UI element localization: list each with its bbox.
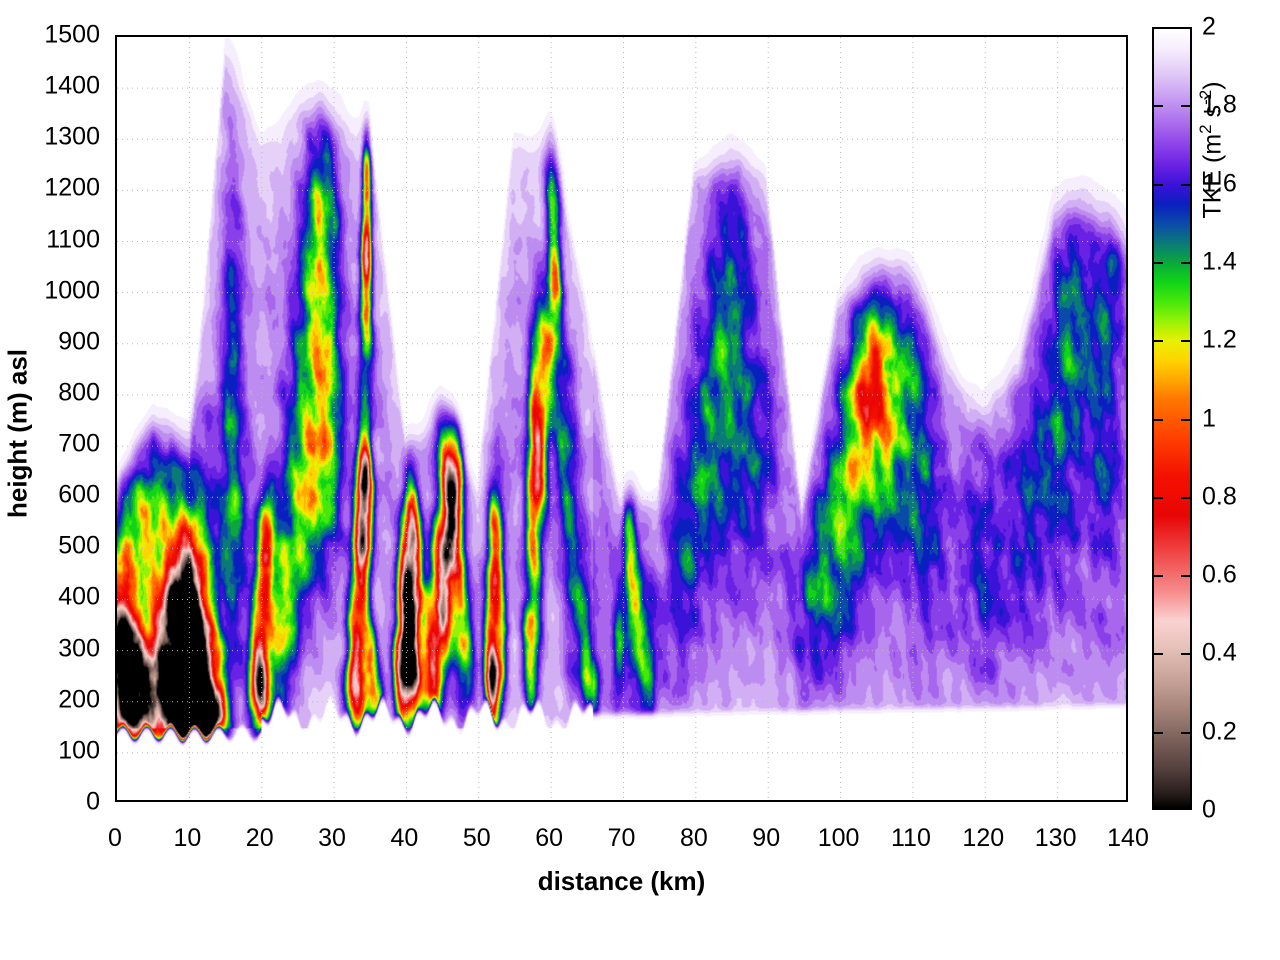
x-tick-major [768,800,770,802]
y-tick-minor-right [1126,472,1128,474]
y-tick-major [115,37,117,39]
x-tick-major-top [1058,35,1060,37]
x-tick-label: 30 [318,824,346,853]
x-tick-minor [370,800,372,802]
x-tick-minor [660,800,662,802]
colorbar-tick [1181,184,1192,186]
y-tick-major-right [1126,88,1128,90]
x-tick-minor-top [804,35,806,37]
x-tick-minor-top [370,35,372,37]
x-tick-minor [732,800,734,802]
y-tick-major-right [1126,548,1128,550]
x-tick-major-top [117,35,119,37]
x-tick-minor-top [949,35,951,37]
y-tick-minor [115,216,117,218]
x-tick-label: 40 [391,824,419,853]
x-tick-minor [949,800,951,802]
y-tick-major-right [1126,293,1128,295]
colorbar-title-sup2: -2 [1196,90,1215,105]
x-tick-major-top [479,35,481,37]
colorbar-tick [1152,653,1163,655]
x-tick-label: 60 [535,824,563,853]
x-tick-label: 70 [608,824,636,853]
x-tick-major-top [189,35,191,37]
x-tick-minor [877,800,879,802]
x-tick-minor [153,800,155,802]
y-tick-major [115,702,117,704]
x-tick-major [551,800,553,802]
colorbar-tick [1181,340,1192,342]
colorbar-title-sup1: 2 [1196,124,1215,133]
colorbar-title-end: ) [1198,81,1226,89]
colorbar-tick [1181,262,1192,264]
x-tick-major [479,800,481,802]
y-tick-minor-right [1126,625,1128,627]
y-tick-minor [115,778,117,780]
y-tick-minor [115,63,117,65]
x-tick-minor-top [298,35,300,37]
x-tick-minor-top [1021,35,1023,37]
y-tick-minor [115,318,117,320]
y-tick-minor [115,523,117,525]
x-tick-label: 10 [173,824,201,853]
y-tick-major-right [1126,753,1128,755]
colorbar-tick [1181,732,1192,734]
y-tick-major [115,599,117,601]
colorbar-tick-label: 1 [1202,404,1216,433]
x-tick-major [334,800,336,802]
y-tick-minor-right [1126,267,1128,269]
colorbar-tick [1181,497,1192,499]
colorbar-title-mid: s [1198,105,1226,124]
y-tick-major [115,190,117,192]
x-tick-minor [1094,800,1096,802]
y-tick-label: 200 [10,685,100,714]
colorbar-tick-label: 0.2 [1202,717,1237,746]
x-tick-minor [1021,800,1023,802]
x-tick-major [1058,800,1060,802]
x-axis-title: distance (km) [0,866,1243,897]
x-tick-major-top [334,35,336,37]
x-tick-label: 50 [463,824,491,853]
y-axis-title: height (m) asl [3,284,34,584]
colorbar-title-text: TKE (m [1198,134,1226,219]
y-tick-label: 400 [10,583,100,612]
y-tick-minor-right [1126,727,1128,729]
x-tick-minor-top [587,35,589,37]
x-tick-label: 80 [680,824,708,853]
x-tick-label: 90 [752,824,780,853]
y-tick-minor-right [1126,63,1128,65]
x-tick-major-top [624,35,626,37]
y-tick-major-right [1126,37,1128,39]
x-tick-minor [587,800,589,802]
y-tick-minor [115,165,117,167]
y-tick-minor-right [1126,676,1128,678]
x-tick-minor [804,800,806,802]
y-tick-minor [115,421,117,423]
x-tick-minor-top [443,35,445,37]
tke-heatmap-canvas [117,37,1126,800]
colorbar-tick-label: 0.8 [1202,482,1237,511]
colorbar [1152,27,1192,810]
colorbar-tick [1181,653,1192,655]
y-tick-minor [115,114,117,116]
y-tick-major-right [1126,190,1128,192]
x-tick-major [913,800,915,802]
y-tick-major [115,497,117,499]
y-tick-minor [115,676,117,678]
y-tick-major [115,88,117,90]
colorbar-tick [1152,184,1163,186]
y-tick-minor-right [1126,778,1128,780]
x-tick-major [696,800,698,802]
x-tick-major-top [913,35,915,37]
x-tick-minor-top [732,35,734,37]
colorbar-tick [1152,262,1163,264]
x-tick-label: 140 [1107,824,1149,853]
y-tick-minor-right [1126,165,1128,167]
y-tick-major [115,139,117,141]
tke-cross-section-figure: 0100200300400500600700800900100011001200… [0,0,1280,960]
y-tick-label: 300 [10,634,100,663]
y-tick-major-right [1126,599,1128,601]
y-tick-label: 1500 [10,21,100,50]
x-tick-minor-top [515,35,517,37]
y-tick-minor [115,472,117,474]
y-tick-major [115,446,117,448]
colorbar-tick [1181,419,1192,421]
y-tick-minor-right [1126,114,1128,116]
x-tick-major [624,800,626,802]
y-tick-minor [115,727,117,729]
x-tick-minor-top [226,35,228,37]
y-tick-minor-right [1126,574,1128,576]
y-tick-major [115,395,117,397]
y-tick-major [115,293,117,295]
x-tick-major [406,800,408,802]
x-tick-minor [298,800,300,802]
x-tick-minor [443,800,445,802]
x-tick-major-top [768,35,770,37]
plot-area [115,35,1128,802]
y-tick-minor-right [1126,369,1128,371]
y-tick-major [115,753,117,755]
x-tick-minor [226,800,228,802]
y-tick-major-right [1126,497,1128,499]
x-tick-major-top [262,35,264,37]
y-tick-minor-right [1126,421,1128,423]
y-tick-minor-right [1126,523,1128,525]
colorbar-tick [1152,575,1163,577]
x-tick-minor-top [660,35,662,37]
y-tick-minor [115,267,117,269]
y-tick-minor-right [1126,318,1128,320]
x-tick-label: 120 [962,824,1004,853]
colorbar-title: TKE (m2 s-2) [1196,0,1227,300]
x-tick-major [189,800,191,802]
y-tick-major-right [1126,651,1128,653]
colorbar-tick [1152,105,1163,107]
x-tick-major [117,800,119,802]
y-tick-major-right [1126,395,1128,397]
x-tick-major-top [406,35,408,37]
x-tick-label: 0 [108,824,122,853]
colorbar-tick [1152,497,1163,499]
y-tick-minor [115,625,117,627]
y-tick-label: 100 [10,736,100,765]
y-tick-major [115,548,117,550]
y-tick-label: 0 [10,788,100,817]
x-tick-major [985,800,987,802]
y-tick-minor [115,574,117,576]
colorbar-tick [1152,419,1163,421]
x-tick-major [841,800,843,802]
colorbar-tick [1152,732,1163,734]
colorbar-tick [1152,340,1163,342]
y-tick-label: 1300 [10,123,100,152]
colorbar-tick-label: 0 [1202,796,1216,825]
x-tick-label: 100 [818,824,860,853]
y-tick-major-right [1126,446,1128,448]
x-tick-minor-top [1094,35,1096,37]
colorbar-tick-label: 0.4 [1202,639,1237,668]
colorbar-tick [1181,105,1192,107]
x-tick-minor-top [877,35,879,37]
y-tick-major-right [1126,702,1128,704]
x-tick-major-top [551,35,553,37]
y-tick-label: 1400 [10,72,100,101]
y-tick-major [115,651,117,653]
x-tick-label: 130 [1035,824,1077,853]
x-tick-label: 20 [246,824,274,853]
y-tick-label: 1200 [10,174,100,203]
x-tick-minor-top [153,35,155,37]
colorbar-tick-label: 1.2 [1202,326,1237,355]
y-tick-label: 1100 [10,225,100,254]
y-tick-minor [115,369,117,371]
x-tick-major-top [696,35,698,37]
y-tick-major-right [1126,242,1128,244]
x-tick-major-top [985,35,987,37]
colorbar-tick-label: 0.6 [1202,561,1237,590]
x-tick-major [262,800,264,802]
y-tick-major [115,344,117,346]
x-tick-minor [515,800,517,802]
colorbar-tick [1181,575,1192,577]
y-tick-major-right [1126,344,1128,346]
y-tick-major [115,242,117,244]
x-tick-label: 110 [891,824,931,853]
x-tick-major-top [841,35,843,37]
y-tick-major-right [1126,139,1128,141]
y-tick-minor-right [1126,216,1128,218]
